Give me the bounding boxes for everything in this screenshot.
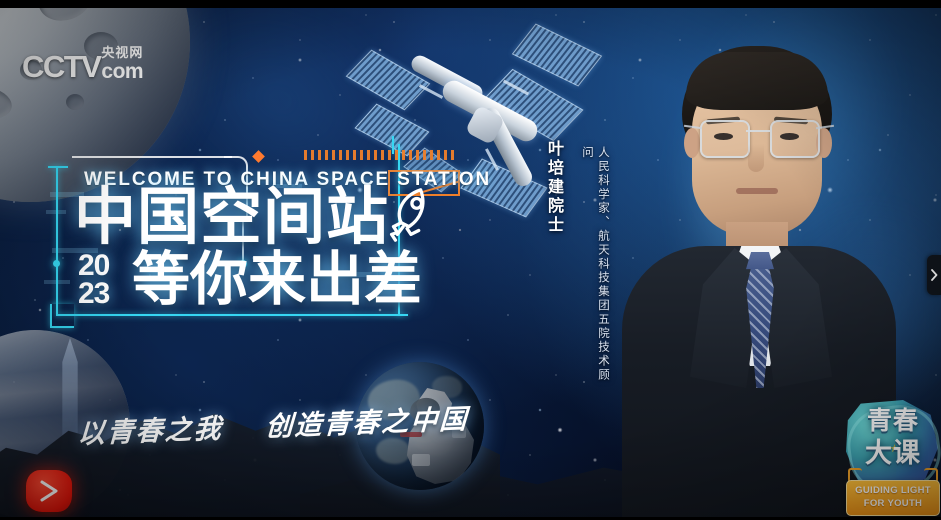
eyeglasses-lens xyxy=(770,120,820,158)
video-player-frame: 叶培建院士 人民科学家、航天科技集团五院技术顾问 WELCOME TO CHIN… xyxy=(0,0,941,520)
cctv-logo-chinese: 央视网 xyxy=(101,47,143,61)
cctv-logo-text: CCTV xyxy=(22,51,100,82)
year-label: 20 23 xyxy=(78,252,134,307)
speaker-mouth xyxy=(736,188,778,194)
chinese-headline: 中国空间站 xyxy=(74,186,389,248)
orange-tick-bar xyxy=(304,150,454,160)
frame-node-dot xyxy=(53,260,60,267)
program-badge: 青春 大课 GUIDING LIGHT FOR YOUTH xyxy=(846,400,938,516)
eyeglasses-lens xyxy=(700,120,750,158)
letterbox-top xyxy=(0,0,941,8)
play-icon xyxy=(38,479,60,503)
cctv-logo[interactable]: CCTV 央视网 com xyxy=(22,40,143,82)
panel-expand-tab[interactable] xyxy=(927,255,941,295)
cctv-logo-suffix: 央视网 com xyxy=(101,47,143,82)
speaker-name: 叶培建院士 xyxy=(542,140,566,235)
hud-rule xyxy=(72,156,232,158)
slogan-part-2: 创造青春之中国 xyxy=(265,404,469,443)
speaker-ear xyxy=(684,128,700,158)
frame-corner-bracket xyxy=(50,304,74,328)
hud-diamond-marker xyxy=(252,150,265,163)
year-top: 20 xyxy=(78,252,134,280)
badge-english-line-1: GUIDING LIGHT xyxy=(847,485,939,496)
speaker-hair-front xyxy=(686,52,828,110)
badge-ribbon: GUIDING LIGHT FOR YOUTH xyxy=(846,480,940,516)
slogan-gap xyxy=(234,436,254,437)
chinese-subline: 等你来出差 xyxy=(132,250,422,308)
title-block: WELCOME TO CHINA SPACE STATION 中国空间站 20 … xyxy=(56,152,460,332)
speaker-nose xyxy=(748,144,764,172)
rocket-icon xyxy=(378,184,440,246)
frame-tick xyxy=(48,166,68,168)
badge-chinese-line-2: 大课 xyxy=(852,440,934,467)
play-button[interactable] xyxy=(26,470,72,512)
chevron-right-icon xyxy=(930,269,938,281)
badge-chinese-line-1: 青春 xyxy=(852,408,934,433)
frame-line-left xyxy=(56,166,58,316)
year-bottom: 23 xyxy=(78,280,134,308)
slogan-part-1: 以青春之我 xyxy=(77,413,223,450)
badge-english-line-2: FOR YOUTH xyxy=(847,498,939,509)
cctv-logo-com: com xyxy=(101,61,143,82)
eyeglasses-bridge xyxy=(746,130,770,132)
speaker-credential: 人民科学家、航天科技集团五院技术顾问 xyxy=(580,146,612,396)
frame-line-bottom xyxy=(56,314,408,316)
